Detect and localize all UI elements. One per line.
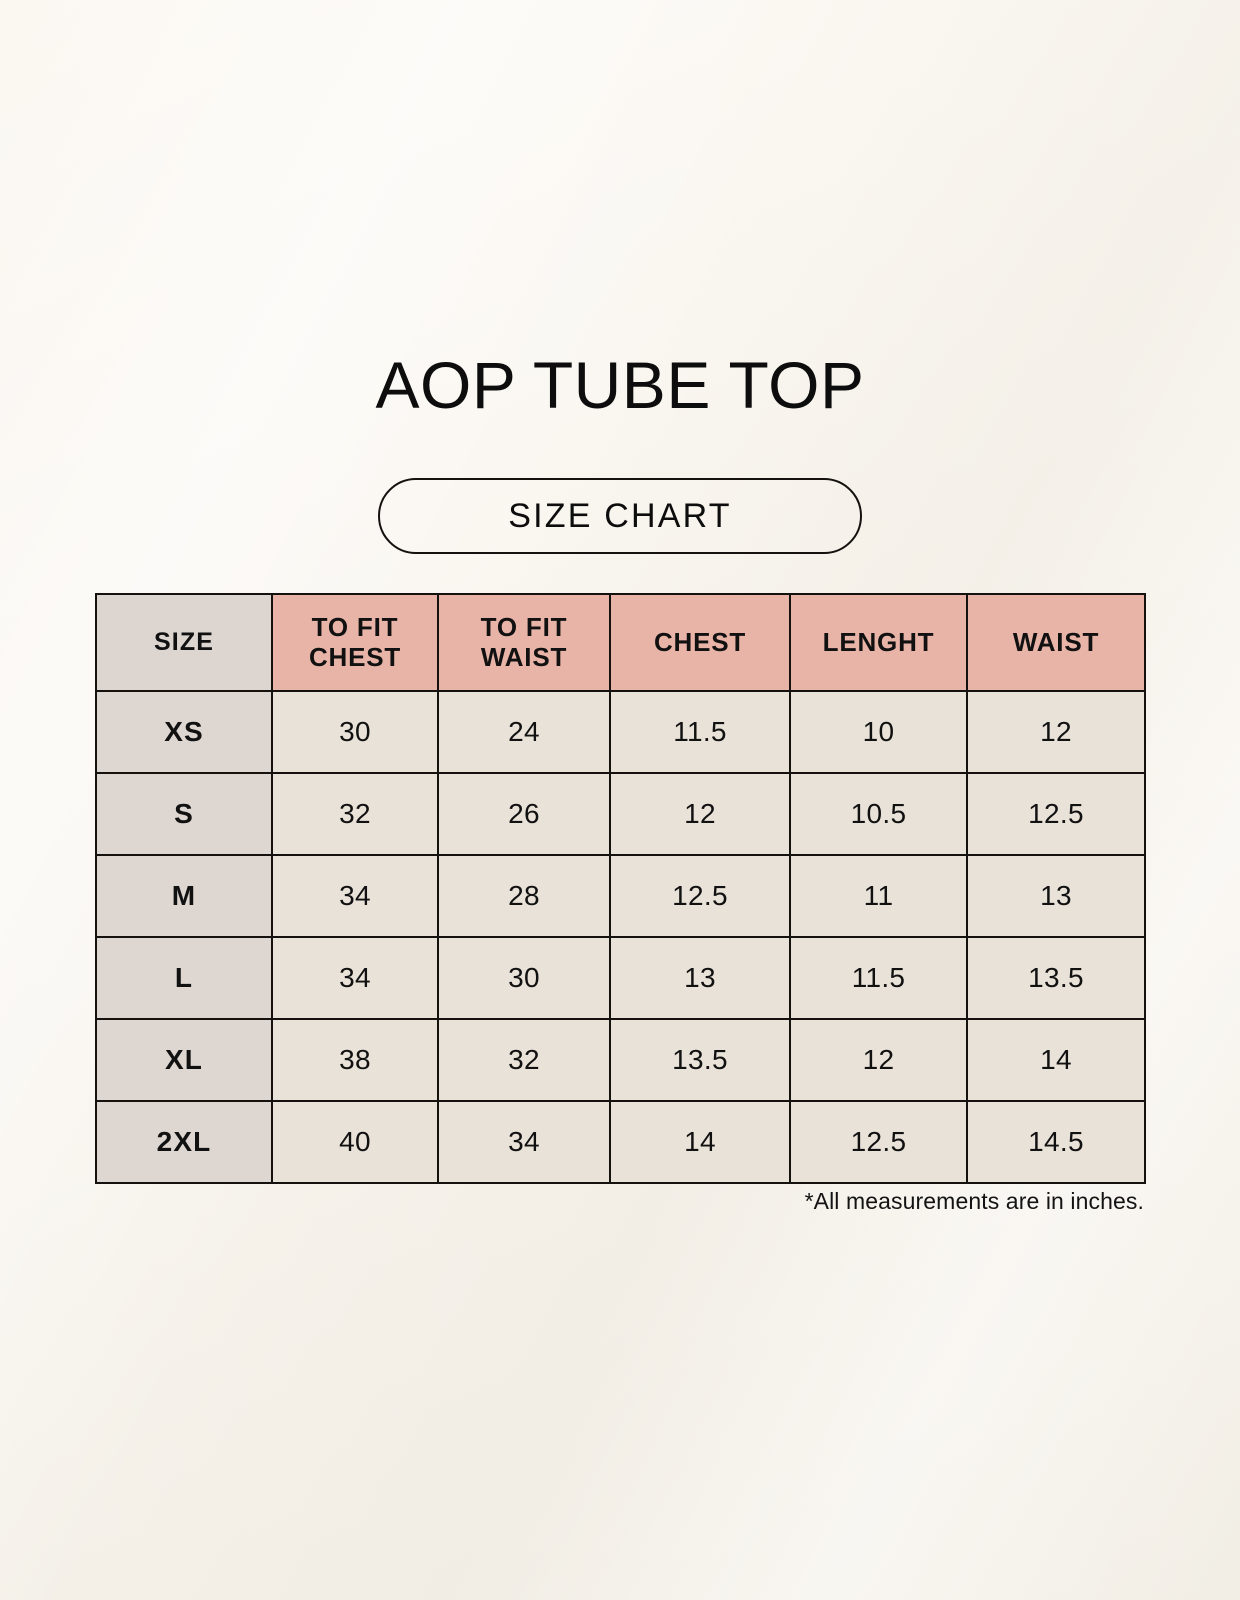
column-header-to-fit-chest-line2: CHEST	[273, 643, 437, 673]
cell-size: XS	[96, 691, 272, 773]
cell-chest: 13	[610, 937, 790, 1019]
cell-waist: 12.5	[967, 773, 1145, 855]
column-header-to-fit-waist-line2: WAIST	[439, 643, 609, 673]
cell-to-fit-waist: 32	[438, 1019, 610, 1101]
column-header-chest: CHEST	[610, 594, 790, 691]
cell-to-fit-waist: 28	[438, 855, 610, 937]
column-header-waist: WAIST	[967, 594, 1145, 691]
cell-size: L	[96, 937, 272, 1019]
cell-lenght: 12.5	[790, 1101, 967, 1183]
cell-size: M	[96, 855, 272, 937]
cell-to-fit-waist: 24	[438, 691, 610, 773]
measurements-footnote: *All measurements are in inches.	[95, 1188, 1144, 1215]
cell-lenght: 10.5	[790, 773, 967, 855]
column-header-to-fit-waist-line1: TO FIT	[439, 613, 609, 643]
page-title: AOP TUBE TOP	[0, 352, 1240, 418]
cell-size: 2XL	[96, 1101, 272, 1183]
cell-to-fit-chest: 34	[272, 937, 438, 1019]
cell-to-fit-chest: 38	[272, 1019, 438, 1101]
cell-lenght: 10	[790, 691, 967, 773]
cell-to-fit-chest: 34	[272, 855, 438, 937]
column-header-size: SIZE	[96, 594, 272, 691]
cell-to-fit-chest: 32	[272, 773, 438, 855]
cell-waist: 13	[967, 855, 1145, 937]
table-row: 2XL 40 34 14 12.5 14.5	[96, 1101, 1145, 1183]
cell-chest: 14	[610, 1101, 790, 1183]
table-row: XL 38 32 13.5 12 14	[96, 1019, 1145, 1101]
cell-to-fit-waist: 26	[438, 773, 610, 855]
size-table: SIZE TO FIT CHEST TO FIT WAIST CHEST LEN…	[95, 593, 1146, 1184]
cell-to-fit-chest: 40	[272, 1101, 438, 1183]
cell-size: S	[96, 773, 272, 855]
table-header-row: SIZE TO FIT CHEST TO FIT WAIST CHEST LEN…	[96, 594, 1145, 691]
cell-chest: 12	[610, 773, 790, 855]
cell-lenght: 11	[790, 855, 967, 937]
cell-size: XL	[96, 1019, 272, 1101]
table-row: L 34 30 13 11.5 13.5	[96, 937, 1145, 1019]
size-chart-badge: SIZE CHART	[378, 478, 862, 554]
table-row: XS 30 24 11.5 10 12	[96, 691, 1145, 773]
cell-chest: 11.5	[610, 691, 790, 773]
cell-chest: 12.5	[610, 855, 790, 937]
column-header-to-fit-chest-line1: TO FIT	[273, 613, 437, 643]
cell-waist: 14.5	[967, 1101, 1145, 1183]
size-table-wrap: SIZE TO FIT CHEST TO FIT WAIST CHEST LEN…	[95, 593, 1144, 1184]
table-row: S 32 26 12 10.5 12.5	[96, 773, 1145, 855]
table-row: M 34 28 12.5 11 13	[96, 855, 1145, 937]
column-header-lenght: LENGHT	[790, 594, 967, 691]
cell-lenght: 11.5	[790, 937, 967, 1019]
cell-to-fit-chest: 30	[272, 691, 438, 773]
cell-to-fit-waist: 34	[438, 1101, 610, 1183]
cell-to-fit-waist: 30	[438, 937, 610, 1019]
size-table-head: SIZE TO FIT CHEST TO FIT WAIST CHEST LEN…	[96, 594, 1145, 691]
size-chart-badge-label: SIZE CHART	[508, 497, 732, 536]
size-table-body: XS 30 24 11.5 10 12 S 32 26 12 10.5 12.5…	[96, 691, 1145, 1183]
column-header-to-fit-waist: TO FIT WAIST	[438, 594, 610, 691]
column-header-to-fit-chest: TO FIT CHEST	[272, 594, 438, 691]
cell-lenght: 12	[790, 1019, 967, 1101]
cell-chest: 13.5	[610, 1019, 790, 1101]
cell-waist: 13.5	[967, 937, 1145, 1019]
size-chart-badge-wrap: SIZE CHART	[0, 478, 1240, 554]
cell-waist: 12	[967, 691, 1145, 773]
cell-waist: 14	[967, 1019, 1145, 1101]
title-block: AOP TUBE TOP	[0, 352, 1240, 418]
size-chart-page: AOP TUBE TOP SIZE CHART SIZE TO FIT	[0, 0, 1240, 1600]
